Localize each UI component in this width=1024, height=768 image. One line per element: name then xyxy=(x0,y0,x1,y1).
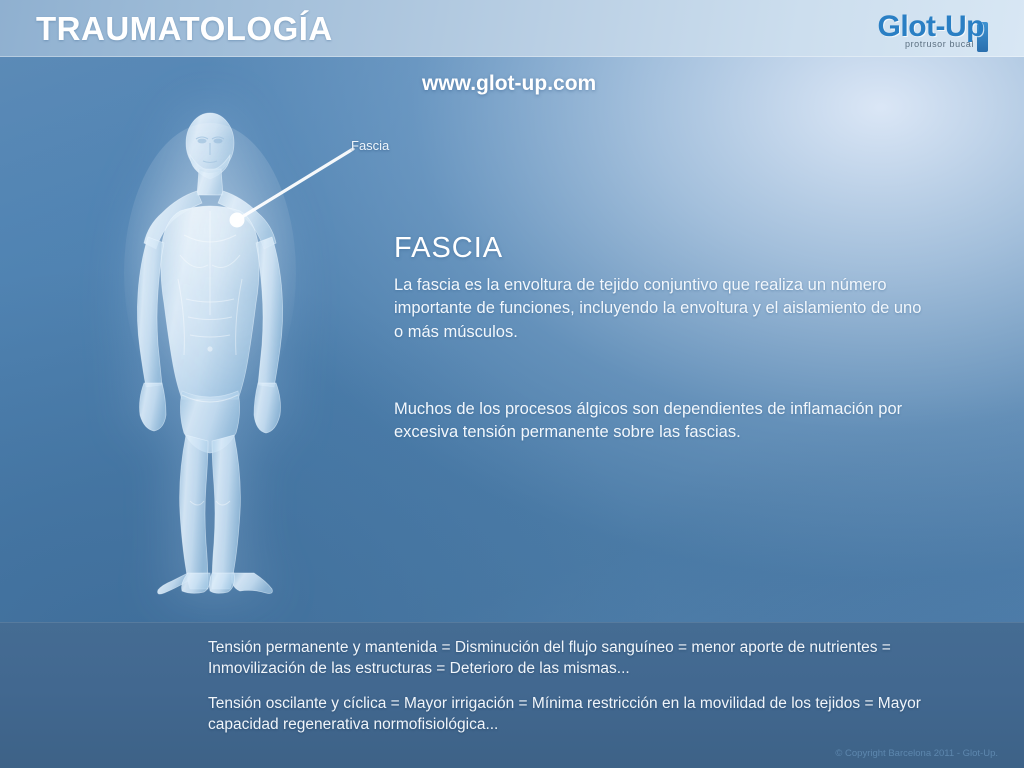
slide-root: TRAUMATOLOGÍA Glot-Up protrusor bucal ww… xyxy=(0,0,1024,768)
brand-logo[interactable]: Glot-Up protrusor bucal xyxy=(854,6,984,54)
bottom-banner: Tensión permanente y mantenida = Disminu… xyxy=(0,622,1024,768)
banner-text-block: Tensión permanente y mantenida = Disminu… xyxy=(208,638,968,736)
content-heading: FASCIA xyxy=(394,232,934,265)
website-url[interactable]: www.glot-up.com xyxy=(422,72,596,96)
paragraph-2-text: Muchos de los procesos álgicos son depen… xyxy=(394,398,934,445)
page-title: TRAUMATOLOGÍA xyxy=(36,10,333,48)
header-bar: TRAUMATOLOGÍA Glot-Up protrusor bucal xyxy=(0,0,1024,57)
copyright-notice: © Copyright Barcelona 2011 - Glot-Up. xyxy=(835,748,998,759)
banner-line-1: Tensión permanente y mantenida = Disminu… xyxy=(208,638,968,680)
logo-tagline: protrusor bucal xyxy=(905,39,974,49)
content-block: FASCIA La fascia es la envoltura de teji… xyxy=(394,232,934,344)
banner-line-2: Tensión oscilante y cíclica = Mayor irri… xyxy=(208,694,968,736)
content-paragraph-1: La fascia es la envoltura de tejido conj… xyxy=(394,274,934,344)
paragraph-1-text: La fascia es la envoltura de tejido conj… xyxy=(394,274,934,344)
human-anatomy-figure xyxy=(118,103,333,598)
content-paragraph-2: Muchos de los procesos álgicos son depen… xyxy=(394,398,934,445)
callout-label: Fascia xyxy=(351,138,389,153)
